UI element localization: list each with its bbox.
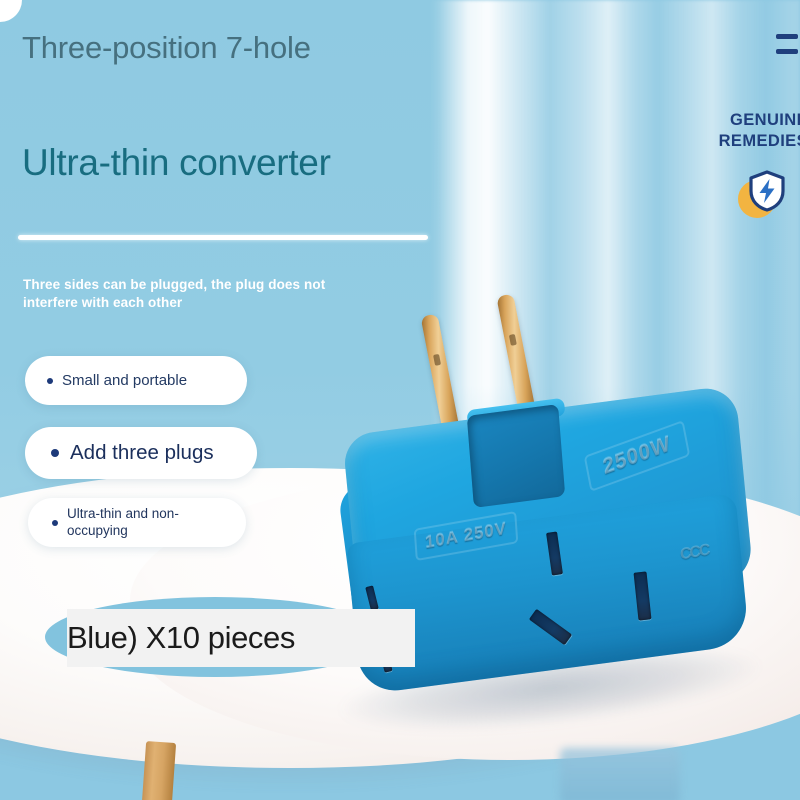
brand-name: GENUINE REMEDIES: [668, 110, 800, 152]
bullet-dot-icon: [52, 520, 58, 526]
divider-rule: [18, 235, 428, 240]
variant-banner: Blue) X10 pieces: [67, 609, 415, 667]
feature-pill-small-and-portable: Small and portable: [25, 356, 247, 405]
product-subcopy: Three sides can be plugged, the plug doe…: [23, 276, 363, 312]
ad-canvas: 2500W 10A 250V CCC Three-position 7-hole…: [0, 0, 800, 800]
bullet-dot-icon: [51, 449, 59, 457]
brand-name-line2: REMEDIES: [668, 131, 800, 152]
plug-prong-left: [421, 313, 461, 436]
feature-pill-label: Small and portable: [62, 372, 187, 390]
brand-name-line1: GENUINE: [668, 110, 800, 131]
page-title: Ultra-thin converter: [22, 142, 482, 183]
bullet-dot-icon: [47, 378, 53, 384]
table-leg-right: [560, 748, 680, 800]
feature-pill-add-three-plugs: Add three plugs: [25, 427, 257, 479]
feature-pill-label: Ultra-thin and non-occupying: [67, 506, 232, 540]
feature-pill-ultra-thin-non-occupying: Ultra-thin and non-occupying: [28, 498, 246, 547]
feature-pill-label: Add three plugs: [70, 441, 214, 466]
prong-well: [467, 404, 565, 508]
shield-bolt-icon: [736, 168, 788, 220]
variant-banner-label: Blue) X10 pieces: [67, 620, 295, 656]
dash-mark-icon: [776, 34, 798, 64]
table-leg-left: [142, 741, 176, 800]
product-kicker-text: Three-position 7-hole: [22, 28, 352, 67]
plug-prong-right: [496, 294, 536, 419]
